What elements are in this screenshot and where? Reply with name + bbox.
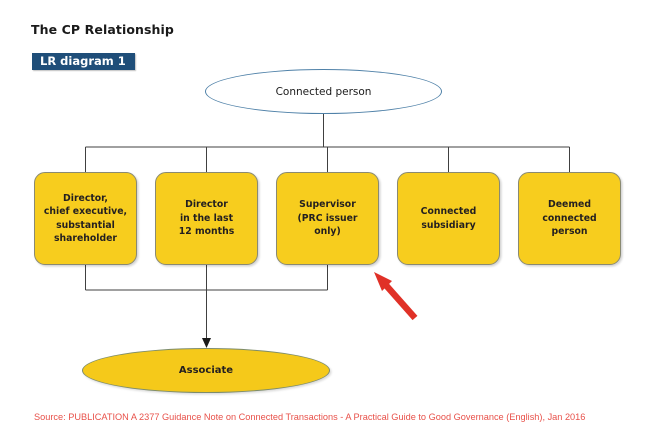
associate-arrowhead <box>202 338 211 348</box>
node-deemed-connected-person[interactable]: Deemed connected person <box>518 172 621 265</box>
node-director-chief-executive-label: Director, chief executive, substantial s… <box>39 192 132 246</box>
node-associate-label: Associate <box>179 365 233 376</box>
node-associate[interactable]: Associate <box>82 348 330 393</box>
slide-canvas: The CP Relationship LR diagram 1 <box>0 0 647 440</box>
node-connected-person[interactable]: Connected person <box>205 69 442 114</box>
node-connected-person-label: Connected person <box>276 86 372 98</box>
node-supervisor-prc-issuer[interactable]: Supervisor (PRC issuer only) <box>276 172 379 265</box>
node-supervisor-prc-issuer-label: Supervisor (PRC issuer only) <box>292 198 362 238</box>
node-connected-subsidiary[interactable]: Connected subsidiary <box>397 172 500 265</box>
red-pointer-arrow <box>374 272 415 318</box>
node-director-last-12-months-label: Director in the last 12 months <box>174 198 239 238</box>
node-director-chief-executive[interactable]: Director, chief executive, substantial s… <box>34 172 137 265</box>
source-note: Source: PUBLICATION A 2377 Guidance Note… <box>34 412 585 422</box>
node-director-last-12-months[interactable]: Director in the last 12 months <box>155 172 258 265</box>
node-deemed-connected-person-label: Deemed connected person <box>537 198 601 238</box>
node-connected-subsidiary-label: Connected subsidiary <box>416 205 482 232</box>
